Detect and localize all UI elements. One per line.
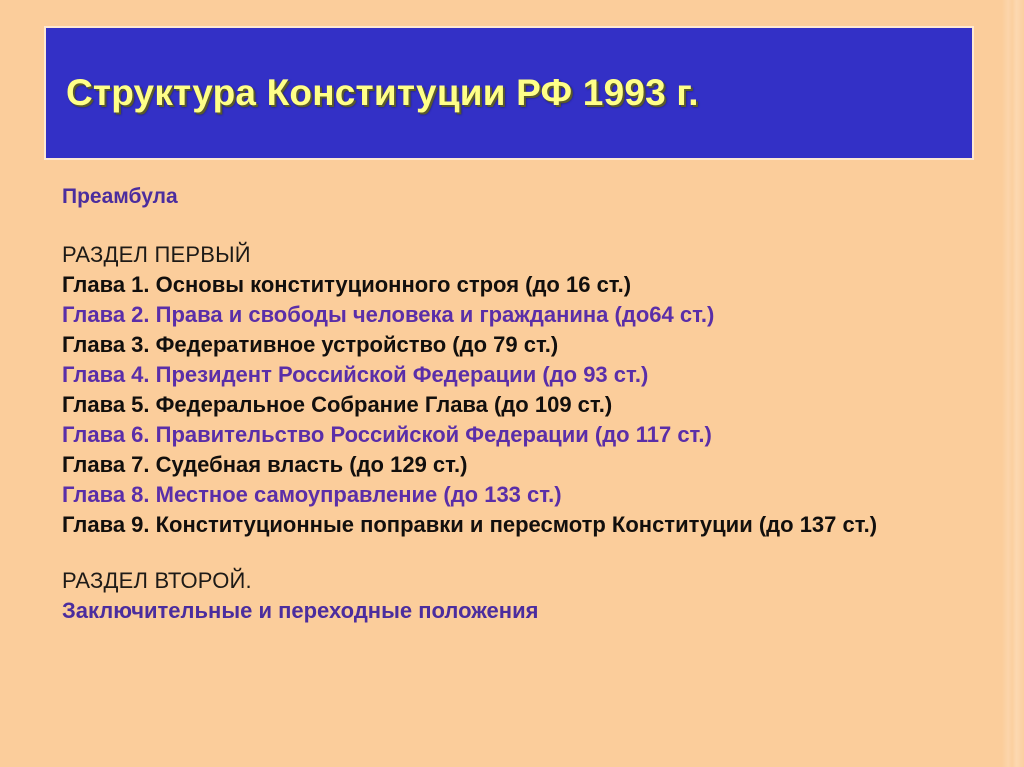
preamble-label: Преамбула: [62, 183, 1002, 211]
chapter-item-2: Глава 2. Права и свободы человека и граж…: [62, 300, 1002, 330]
chapter-item-4: Глава 4. Президент Российской Федерации …: [62, 360, 1002, 390]
spacer-after-preamble: [62, 211, 1002, 240]
title-banner: Структура Конституции РФ 1993 г.: [46, 28, 972, 158]
section-two-subtitle: Заключительные и переходные положения: [62, 596, 1002, 626]
chapter-item-7: Глава 7. Судебная власть (до 129 ст.): [62, 450, 1002, 480]
chapter-item-3: Глава 3. Федеративное устройство (до 79 …: [62, 330, 1002, 360]
slide-right-edge-highlight: [1002, 0, 1024, 767]
section-two-heading: РАЗДЕЛ ВТОРОЙ.: [62, 566, 1002, 596]
slide-title: Структура Конституции РФ 1993 г.: [46, 72, 699, 114]
chapter-item-6: Глава 6. Правительство Российской Федера…: [62, 420, 1002, 450]
slide-body: Преамбула РАЗДЕЛ ПЕРВЫЙ Глава 1. Основы …: [62, 183, 1002, 626]
chapter-item-8: Глава 8. Местное самоуправление (до 133 …: [62, 480, 1002, 510]
section-one-heading: РАЗДЕЛ ПЕРВЫЙ: [62, 240, 1002, 270]
chapter-item-9: Глава 9. Конституционные поправки и пере…: [62, 510, 1007, 540]
spacer-before-section-two: [62, 540, 1002, 566]
chapter-item-1: Глава 1. Основы конституционного строя (…: [62, 270, 1002, 300]
chapter-item-5: Глава 5. Федеральное Собрание Глава (до …: [62, 390, 1002, 420]
